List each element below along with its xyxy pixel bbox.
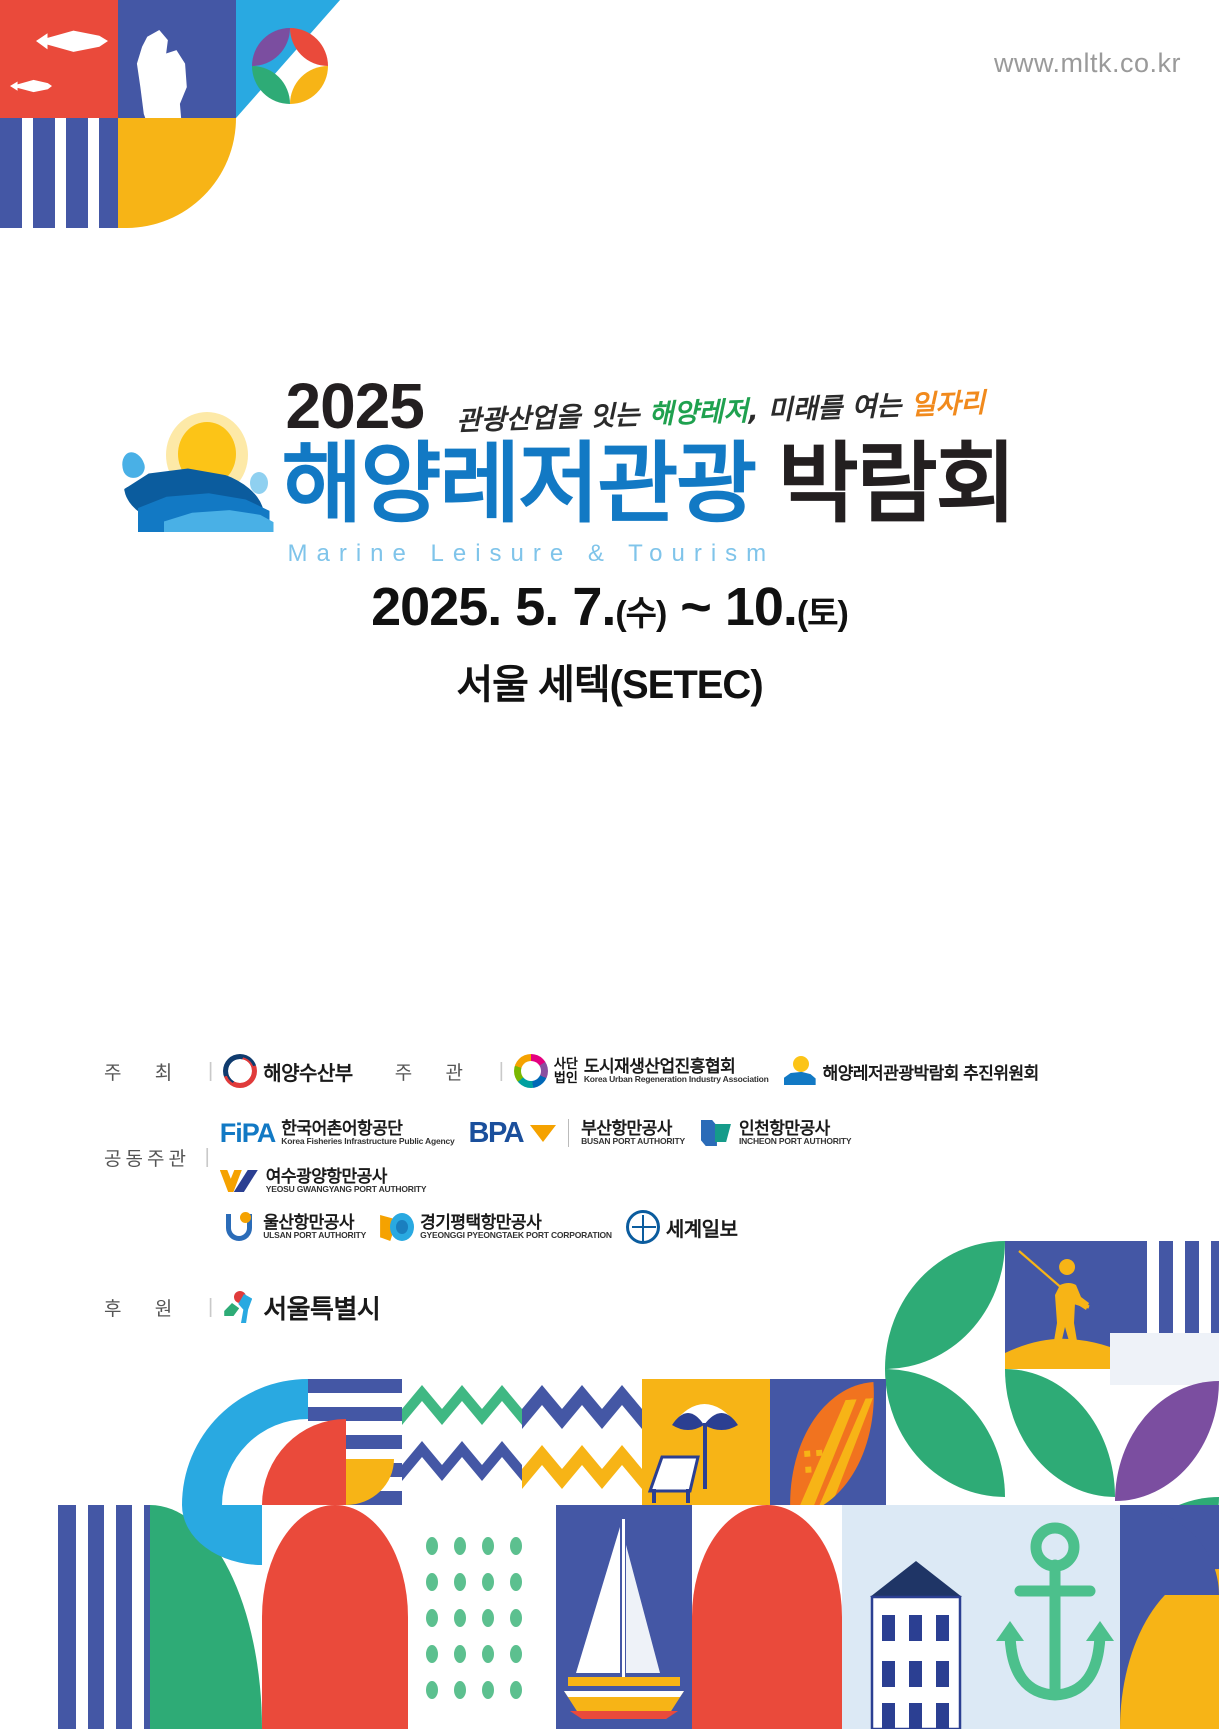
sponsor-kura[interactable]: 사단 법인 도시재생산업진흥협회 Korea Urban Regeneratio… — [514, 1054, 769, 1088]
sponsor-subname: INCHEON PORT AUTHORITY — [739, 1137, 851, 1146]
zigzag-green-tile — [402, 1379, 522, 1505]
event-logo-block: 2025 관광산업을 잇는 해양레저, 미래를 여는 일자리 해양레저관광 박람… — [0, 368, 1219, 558]
sun-wave-logo-icon — [118, 410, 268, 530]
sponsor-name: 해양레저관광박람회 추진위원회 — [823, 1059, 1039, 1084]
poster-canvas: www.mltk.co.kr 2025 관광산업을 잇는 해양레저, 미래를 여… — [0, 0, 1219, 1729]
sponsor-ipa[interactable]: 인천항만공사 INCHEON PORT AUTHORITY — [699, 1116, 851, 1150]
tagline-highlight-orange: 일자리 — [910, 388, 986, 422]
date-weekday-end: (토) — [797, 595, 848, 633]
sponsor-row-host: 주 최 | 해양수산부 주 관 | 사단 법인 도시 — [104, 1048, 1044, 1094]
pale-tile — [1110, 1333, 1219, 1385]
leaf-green-icon-3 — [1005, 1369, 1115, 1497]
taegeuk-icon — [223, 1054, 257, 1088]
zigzag-navy-tile — [522, 1379, 642, 1505]
kura-circle-icon — [514, 1054, 548, 1088]
date-main: 2025. 5. 7. — [371, 577, 615, 637]
sailboat-icon — [556, 1505, 692, 1729]
surfboard-icon — [782, 1382, 883, 1505]
sponsor-yeosu-gwangyang[interactable]: 여수광양항만공사 YEOSU GWANGYANG PORT AUTHORITY — [220, 1164, 427, 1198]
tagline-part2: , 미래를 여는 — [747, 390, 911, 427]
date-end: 10. — [725, 577, 797, 637]
sponsor-label-host: 주 최 — [104, 1058, 208, 1085]
page-title: 해양레저관광 박람회 — [282, 440, 1015, 528]
logo-year: 2025 — [286, 374, 424, 438]
bpa-triangle-icon — [530, 1125, 556, 1142]
kura-prefix: 사단 법인 — [554, 1057, 578, 1084]
sponsor-name: 부산항만공사 — [581, 1120, 685, 1138]
bpa-icon: BPA — [469, 1117, 524, 1150]
beach-umbrella-tile — [642, 1379, 770, 1505]
sponsor-mof[interactable]: 해양수산부 — [223, 1054, 353, 1088]
sponsor-name: 한국어촌어항공단 — [281, 1120, 454, 1138]
sponsor-name: 여수광양항만공사 — [266, 1168, 427, 1186]
event-date: 2025. 5. 7.(수) ~ 10.(토) — [0, 576, 1219, 638]
sponsor-fipa[interactable]: FiPA 한국어촌어항공단 Korea Fisheries Infrastruc… — [220, 1118, 455, 1149]
sponsor-name: 해양수산부 — [263, 1057, 353, 1086]
sponsor-label-organizer: 주 관 — [395, 1058, 499, 1085]
divider-line — [568, 1119, 569, 1147]
sponsor-label-coorganizer: 공동주관 — [104, 1144, 205, 1171]
stripes-tile — [0, 118, 118, 228]
sponsor-row-coorganizer-a: 공동주관 | FiPA 한국어촌어항공단 Korea Fisheries Inf… — [104, 1116, 1044, 1198]
title-black-part: 박람회 — [755, 434, 1014, 533]
date-range-tilde: ~ — [666, 577, 725, 637]
website-url[interactable]: www.mltk.co.kr — [994, 48, 1181, 79]
sponsor-subname: Korea Fisheries Infrastructure Public Ag… — [281, 1137, 454, 1146]
petal-flower-icon — [252, 28, 328, 104]
ipa-icon — [699, 1116, 733, 1150]
beach-umbrella-icon — [642, 1379, 770, 1505]
leaf-purple-icon — [1115, 1381, 1219, 1501]
anchor-icon — [990, 1505, 1120, 1729]
title-blue-part: 해양레저관광 — [282, 434, 756, 533]
building-icon — [842, 1505, 990, 1729]
sailboat-tile — [556, 1505, 692, 1729]
yg-icon — [220, 1164, 260, 1198]
tagline-highlight-green: 해양레저 — [648, 396, 748, 430]
leaf-green-icon — [885, 1241, 1005, 1369]
half-circle-red — [262, 1505, 408, 1729]
sponsor-committee[interactable]: 해양레저관광박람회 추진위원회 — [783, 1054, 1039, 1088]
sponsor-divider: | — [208, 1060, 213, 1083]
sponsor-divider-2: | — [499, 1060, 504, 1083]
sponsor-name: 인천항만공사 — [739, 1120, 851, 1138]
lighthouse-building-tile — [842, 1505, 990, 1729]
sponsor-divider-3: | — [205, 1146, 210, 1169]
sponsor-subname: Korea Urban Regeneration Industry Associ… — [584, 1075, 769, 1084]
fish-tile-red — [0, 0, 118, 118]
yellow-quarter-tile — [118, 118, 236, 228]
surfboard-tile — [770, 1379, 886, 1505]
date-weekday-start: (수) — [615, 595, 666, 633]
zigzag-icon — [402, 1379, 522, 1505]
fish-icon — [36, 28, 108, 54]
fish-small-icon — [10, 78, 52, 94]
leaf-green-icon-2 — [885, 1369, 1005, 1497]
sponsor-subname: BUSAN PORT AUTHORITY — [581, 1137, 685, 1146]
anchor-tile — [990, 1505, 1120, 1729]
tagline-part1: 관광산업을 잇는 — [455, 400, 649, 438]
bottom-decorative-mosaic — [0, 1229, 1219, 1729]
vertical-stripes-left — [58, 1505, 150, 1729]
dot-grid-tile — [408, 1505, 556, 1729]
top-decorative-mosaic — [0, 0, 340, 228]
logo-tagline: 관광산업을 잇는 해양레저, 미래를 여는 일자리 — [455, 381, 985, 438]
mltk-sun-wave-icon — [783, 1054, 817, 1088]
sponsor-name: 도시재생산업진흥협회 — [584, 1058, 769, 1076]
zigzag-icon-2 — [522, 1379, 642, 1505]
fipa-icon: FiPA — [220, 1118, 276, 1149]
event-venue: 서울 세텍(SETEC) — [0, 652, 1219, 710]
logo-subtitle-en: Marine Leisure & Tourism — [288, 540, 776, 568]
sponsor-subname: YEOSU GWANGYANG PORT AUTHORITY — [266, 1185, 427, 1194]
vertical-stripes-tile — [1133, 1241, 1219, 1333]
sponsor-bpa[interactable]: BPA 부산항만공사 BUSAN PORT AUTHORITY — [469, 1117, 685, 1150]
half-circle-red-2 — [692, 1505, 842, 1729]
